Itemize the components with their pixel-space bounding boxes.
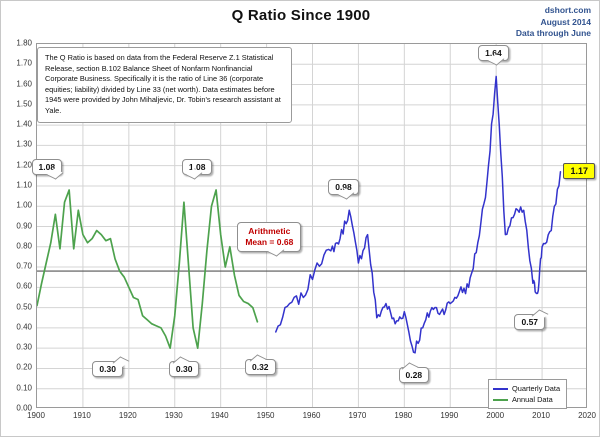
y-tick-label: 1.80: [1, 39, 32, 48]
legend-label-annual: Annual Data: [512, 395, 553, 404]
y-tick-label: 0.10: [1, 383, 32, 392]
mean-label-line2: Mean = 0.68: [245, 237, 293, 248]
source-date: August 2014: [516, 17, 591, 29]
current-value: 1.17: [570, 166, 588, 176]
chart-legend: Quarterly Data Annual Data: [488, 379, 567, 409]
y-tick-label: 0.60: [1, 282, 32, 291]
legend-item-quarterly: Quarterly Data: [493, 383, 560, 394]
y-tick-label: 1.20: [1, 160, 32, 169]
page-title: Q Ratio Since 1900: [1, 7, 600, 24]
callout-arithmetic-mean: Arithmetic Mean = 0.68: [237, 222, 301, 252]
y-tick-label: 0.70: [1, 262, 32, 271]
y-tick-label: 1.40: [1, 120, 32, 129]
x-tick-label: 2020: [578, 411, 596, 420]
x-tick-label: 1940: [211, 411, 229, 420]
x-tick-label: 1980: [394, 411, 412, 420]
callout-peak-1929: 1.08: [182, 159, 213, 175]
y-tick-label: 1.10: [1, 180, 32, 189]
y-tick-label: 0.20: [1, 363, 32, 372]
legend-swatch-quarterly: [493, 388, 508, 390]
legend-item-annual: Annual Data: [493, 394, 560, 405]
series-line-annual-data: [37, 190, 257, 348]
callout-trough-1932: 0.30: [169, 361, 200, 377]
x-tick-label: 1950: [257, 411, 275, 420]
y-tick-label: 0.80: [1, 241, 32, 250]
source-note: Data through June: [516, 28, 591, 40]
x-tick-label: 1930: [165, 411, 183, 420]
callout-peak-1906: 1.08: [32, 159, 63, 175]
callout-peak-2000: 1.64: [478, 45, 509, 61]
x-tick-label: 1900: [27, 411, 45, 420]
x-tick-label: 1970: [349, 411, 367, 420]
legend-label-quarterly: Quarterly Data: [512, 384, 560, 393]
chart-page: Q Ratio Since 1900 dshort.com August 201…: [1, 1, 599, 436]
x-tick-label: 1920: [119, 411, 137, 420]
callout-current-value: 1.17: [563, 163, 595, 179]
callout-trough-1949: 0.32: [245, 359, 276, 375]
callout-trough-1920: 0.30: [92, 361, 123, 377]
source-attribution: dshort.com August 2014 Data through June: [516, 5, 591, 40]
x-tick-label: 2000: [486, 411, 504, 420]
callout-peak-1968: 0.98: [328, 179, 359, 195]
y-tick-label: 0.50: [1, 302, 32, 311]
y-tick-label: 1.60: [1, 79, 32, 88]
series-line-quarterly-data: [276, 76, 561, 352]
description-text: The Q Ratio is based on data from the Fe…: [45, 53, 281, 115]
x-tick-label: 2010: [532, 411, 550, 420]
y-tick-label: 1.00: [1, 201, 32, 210]
source-website: dshort.com: [516, 5, 591, 17]
callout-trough-2009: 0.57: [514, 314, 545, 330]
description-box: The Q Ratio is based on data from the Fe…: [37, 47, 292, 123]
y-tick-label: 1.70: [1, 59, 32, 68]
y-tick-label: 1.30: [1, 140, 32, 149]
callout-value: 0.57: [521, 317, 538, 327]
y-tick-label: 1.50: [1, 99, 32, 108]
y-tick-label: 0.30: [1, 343, 32, 352]
legend-swatch-annual: [493, 399, 508, 401]
y-tick-label: 0.90: [1, 221, 32, 230]
x-tick-label: 1960: [303, 411, 321, 420]
callout-trough-1982: 0.28: [399, 367, 430, 383]
y-tick-label: 0.40: [1, 322, 32, 331]
x-tick-label: 1990: [440, 411, 458, 420]
x-tick-label: 1910: [73, 411, 91, 420]
callout-value: 0.30: [99, 364, 116, 374]
mean-label-line1: Arithmetic: [245, 226, 293, 237]
